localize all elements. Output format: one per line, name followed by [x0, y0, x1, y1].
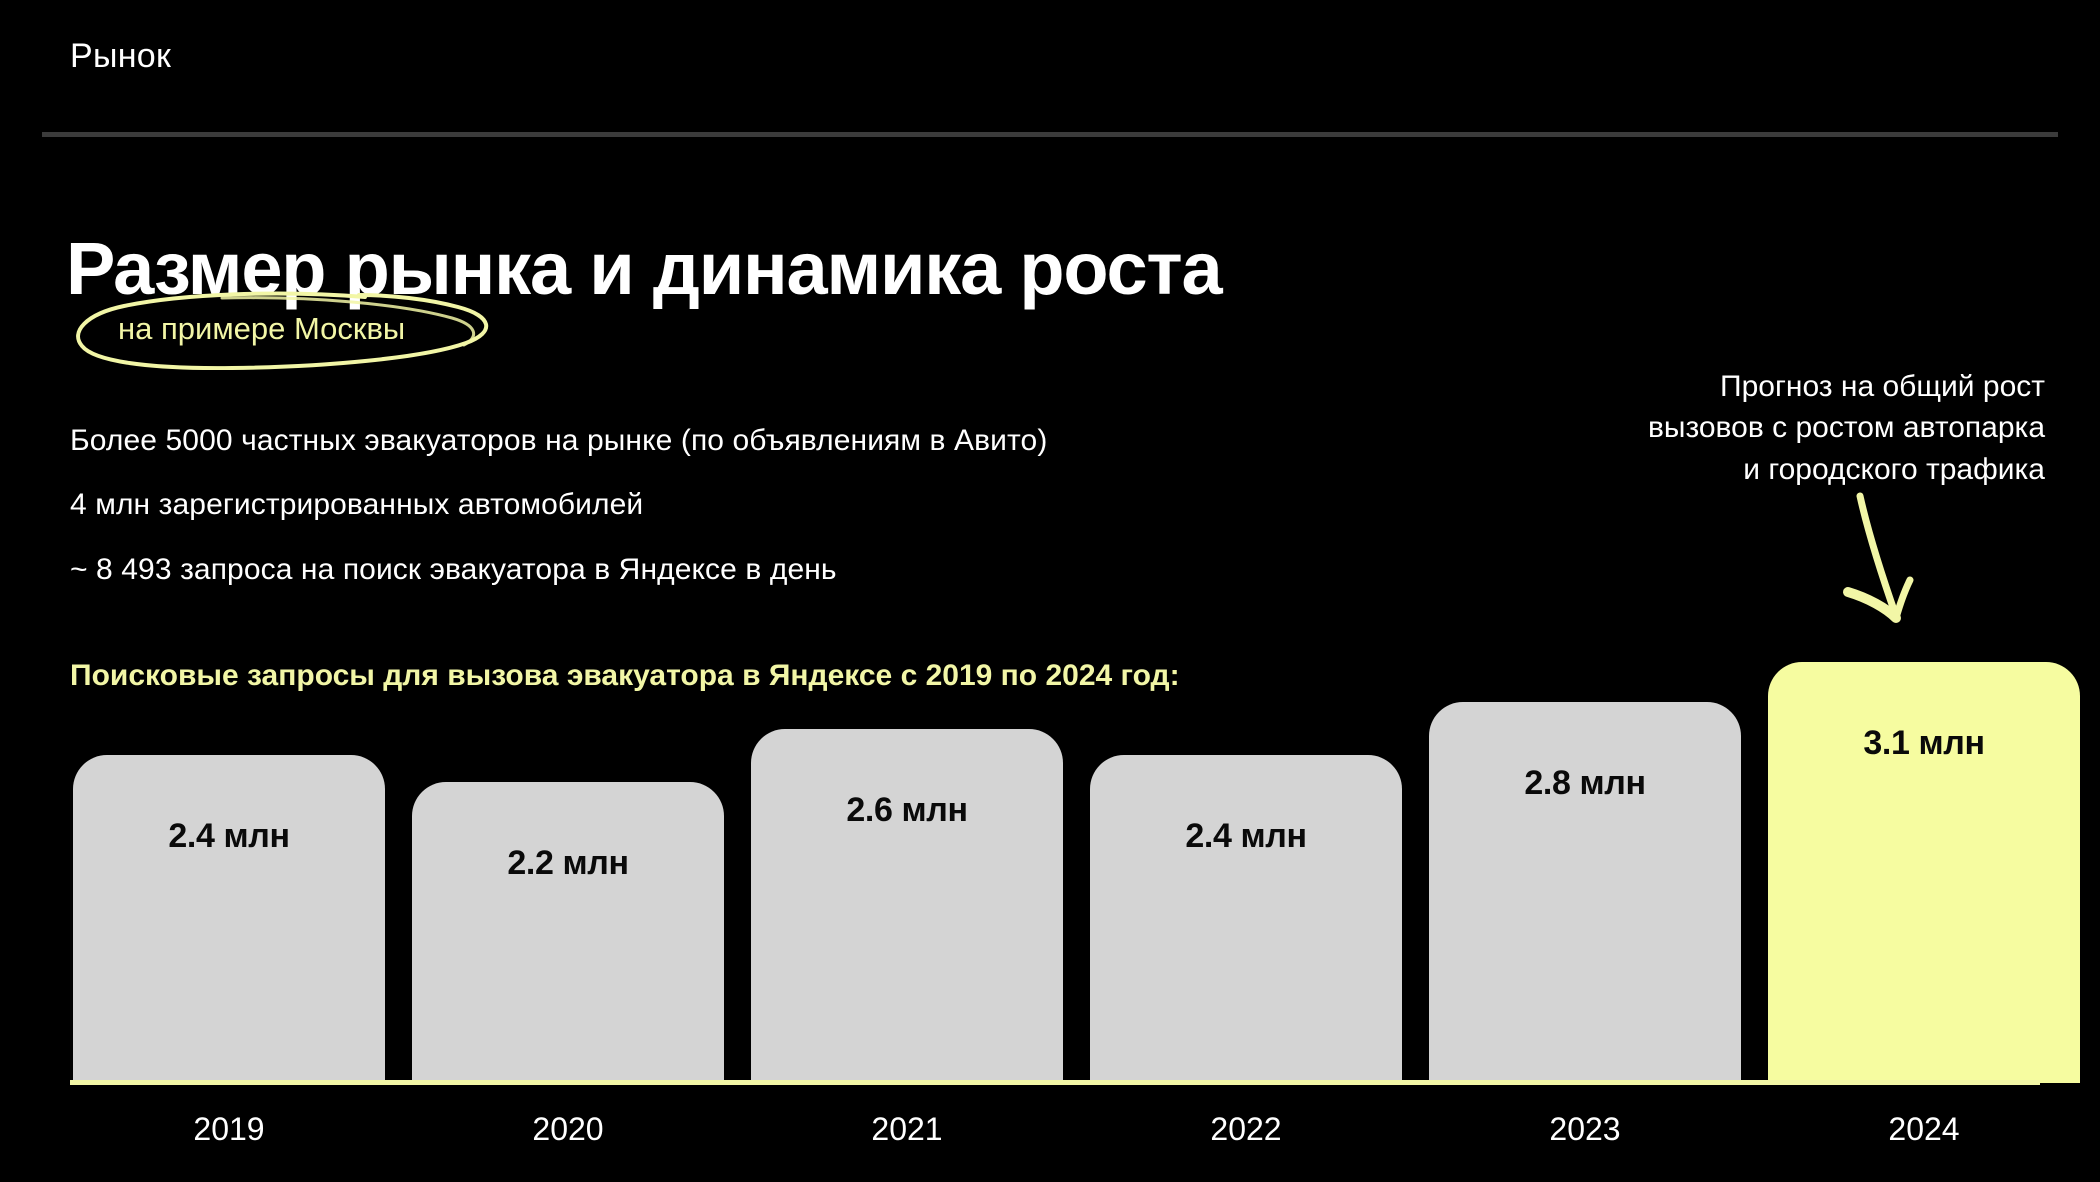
- bar-2020[interactable]: 2.2 млн: [412, 782, 724, 1083]
- body-line: ~ 8 493 запроса на поиск эвакуатора в Ян…: [70, 551, 837, 589]
- bar-value-label: 2.6 млн: [751, 791, 1063, 830]
- bar-value-label: 3.1 млн: [1768, 724, 2080, 763]
- chart-caption: Поисковые запросы для вызова эвакуатора …: [70, 658, 1180, 694]
- category-label-2024: 2024: [1768, 1110, 2080, 1148]
- hand-drawn-arrow-icon: [1838, 492, 1948, 642]
- category-label-2023: 2023: [1429, 1110, 1741, 1148]
- bar-value-label: 2.2 млн: [412, 844, 724, 883]
- bar-2019[interactable]: 2.4 млн: [73, 755, 385, 1083]
- body-line: 4 млн зарегистрированных автомобилей: [70, 486, 643, 524]
- category-label-2021: 2021: [751, 1110, 1063, 1148]
- bar-2023[interactable]: 2.8 млн: [1429, 702, 1741, 1083]
- forecast-annotation: Прогноз на общий рост вызовов с ростом а…: [1645, 366, 2045, 490]
- bar-value-label: 2.4 млн: [1090, 817, 1402, 856]
- category-label-2020: 2020: [412, 1110, 724, 1148]
- slide-root: Рынок Размер рынка и динамика роста на п…: [0, 0, 2100, 1182]
- body-line: Более 5000 частных эвакуаторов на рынке …: [70, 422, 1047, 460]
- header-divider: [42, 132, 2058, 137]
- subtitle-label: на примере Москвы: [118, 310, 405, 347]
- bar-value-label: 2.4 млн: [73, 817, 385, 856]
- category-label-2022: 2022: [1090, 1110, 1402, 1148]
- chart-baseline: [70, 1080, 2040, 1085]
- category-label-2019: 2019: [73, 1110, 385, 1148]
- section-eyebrow: Рынок: [70, 36, 171, 77]
- bar-2022[interactable]: 2.4 млн: [1090, 755, 1402, 1083]
- bar-2021[interactable]: 2.6 млн: [751, 729, 1063, 1083]
- bar-value-label: 2.8 млн: [1429, 764, 1741, 803]
- bar-2024[interactable]: 3.1 млн: [1768, 662, 2080, 1083]
- subtitle-group: на примере Москвы: [72, 288, 492, 370]
